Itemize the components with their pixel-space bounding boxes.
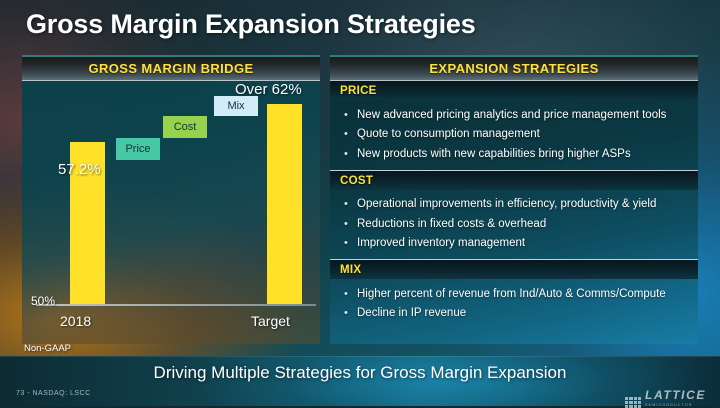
list-item: New products with new capabilities bring… [330, 144, 698, 164]
tick-label-target: Target [251, 313, 290, 329]
slide-footer: Driving Multiple Strategies for Gross Ma… [0, 356, 720, 406]
slide-canvas: Gross Margin Expansion Strategies GROSS … [0, 0, 720, 405]
value-label-target: Over 62% [235, 81, 302, 98]
segment-price-label: Price [125, 143, 150, 155]
logo-name: LATTICE [645, 388, 706, 402]
segment-cost: Cost [163, 116, 207, 138]
value-label-2018: 57.2% [58, 161, 101, 178]
bullet-list-price: New advanced pricing analytics and price… [330, 100, 698, 170]
bullet-list-mix: Higher percent of revenue from Ind/Auto … [330, 279, 698, 329]
section-header-price: PRICE [330, 81, 698, 100]
list-item: Reductions in fixed costs & overhead [330, 214, 698, 234]
strategies-list: PRICE New advanced pricing analytics and… [330, 81, 698, 344]
section-header-cost: COST [330, 170, 698, 190]
left-panel-header: GROSS MARGIN BRIDGE [22, 55, 320, 81]
chart-baseline-axis [36, 304, 316, 306]
gross-margin-bridge-panel: GROSS MARGIN BRIDGE Price Cost Mix 57.2%… [22, 55, 320, 341]
segment-price: Price [116, 138, 160, 160]
tick-label-2018: 2018 [60, 313, 91, 329]
right-panel-header: EXPANSION STRATEGIES [330, 55, 698, 81]
list-item: Quote to consumption management [330, 125, 698, 145]
segment-cost-label: Cost [174, 121, 197, 133]
axis-min-label: 50% [31, 294, 55, 308]
list-item: New advanced pricing analytics and price… [330, 105, 698, 125]
section-header-mix: MIX [330, 259, 698, 279]
bullet-list-cost: Operational improvements in efficiency, … [330, 190, 698, 260]
segment-mix: Mix [214, 96, 258, 116]
list-item: Decline in IP revenue [330, 304, 698, 324]
page-title: Gross Margin Expansion Strategies [26, 9, 476, 40]
segment-mix-label: Mix [227, 100, 244, 112]
bar-target [267, 104, 302, 304]
list-item: Operational improvements in efficiency, … [330, 195, 698, 215]
non-gaap-footnote: Non-GAAP [24, 343, 71, 354]
page-number-ticker: 73 - NASDAQ: LSCC [16, 390, 91, 397]
list-item: Improved inventory management [330, 234, 698, 254]
waterfall-chart: Price Cost Mix 57.2% Over 62% 2018 Targe… [22, 81, 320, 344]
footer-tagline: Driving Multiple Strategies for Gross Ma… [0, 363, 720, 383]
logo-grid-icon [625, 397, 641, 408]
expansion-strategies-panel: EXPANSION STRATEGIES PRICE New advanced … [330, 55, 698, 341]
list-item: Higher percent of revenue from Ind/Auto … [330, 284, 698, 304]
